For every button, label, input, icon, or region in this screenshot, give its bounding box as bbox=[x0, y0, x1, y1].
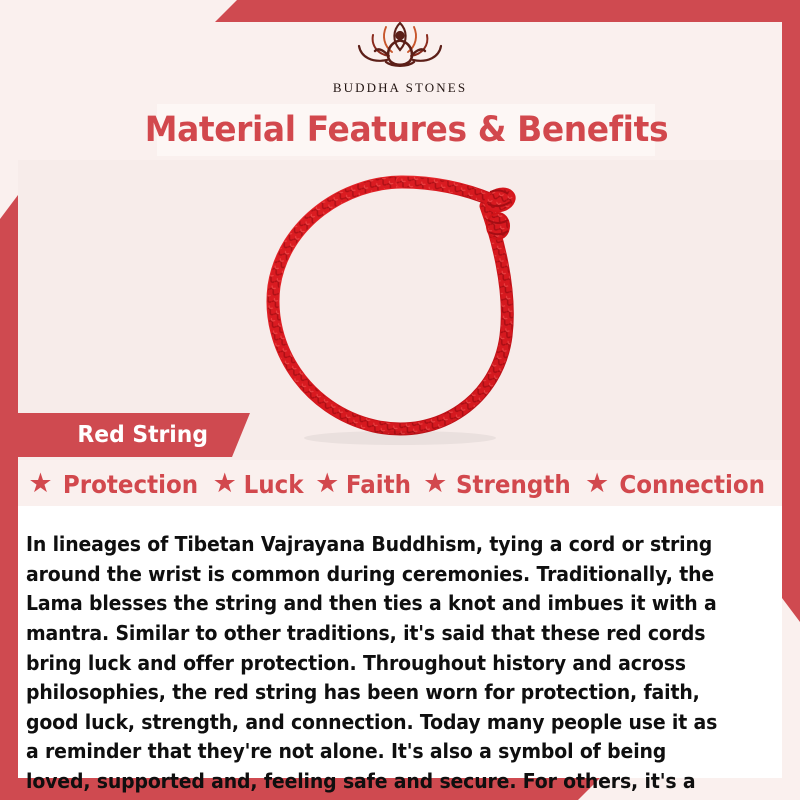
star-icon: ★ bbox=[28, 470, 52, 497]
brand-wordmark: BUDDHA STONES bbox=[333, 80, 467, 96]
lotus-meditation-icon bbox=[348, 10, 452, 78]
benefit-item: ★ Strength bbox=[423, 470, 576, 499]
red-string-bracelet-icon bbox=[250, 160, 550, 460]
material-label-banner: Red String bbox=[18, 413, 250, 457]
description-panel: In lineages of Tibetan Vajrayana Buddhis… bbox=[18, 506, 782, 778]
benefit-item: ★ Protection bbox=[28, 470, 203, 499]
description-text: In lineages of Tibetan Vajrayana Buddhis… bbox=[26, 530, 725, 800]
benefit-label: Strength bbox=[456, 470, 571, 499]
star-icon: ★ bbox=[423, 470, 447, 497]
benefit-item: ★ Connection bbox=[585, 470, 772, 499]
page-title: Material Features & Benefits bbox=[144, 110, 667, 150]
benefit-item: ★ Luck bbox=[213, 470, 306, 499]
star-icon: ★ bbox=[585, 470, 609, 497]
decorative-band-right bbox=[782, 22, 800, 622]
star-icon: ★ bbox=[315, 470, 339, 497]
brand-header: BUDDHA STONES bbox=[0, 0, 800, 100]
material-label: Red String bbox=[77, 422, 208, 448]
brand-logo: BUDDHA STONES bbox=[0, 10, 800, 96]
page-title-band: Material Features & Benefits bbox=[157, 104, 655, 156]
benefits-row: ★ Protection ★ Luck ★ Faith ★ Strength ★… bbox=[18, 462, 782, 506]
benefit-label: Connection bbox=[620, 470, 766, 499]
star-icon: ★ bbox=[213, 470, 237, 497]
decorative-band-left bbox=[0, 195, 18, 780]
benefit-label: Luck bbox=[243, 470, 303, 499]
material-features-poster: BUDDHA STONES Material Features & Benefi… bbox=[0, 0, 800, 800]
benefit-label: Protection bbox=[62, 470, 197, 499]
benefit-item: ★ Faith bbox=[315, 470, 414, 499]
benefit-label: Faith bbox=[346, 470, 411, 499]
